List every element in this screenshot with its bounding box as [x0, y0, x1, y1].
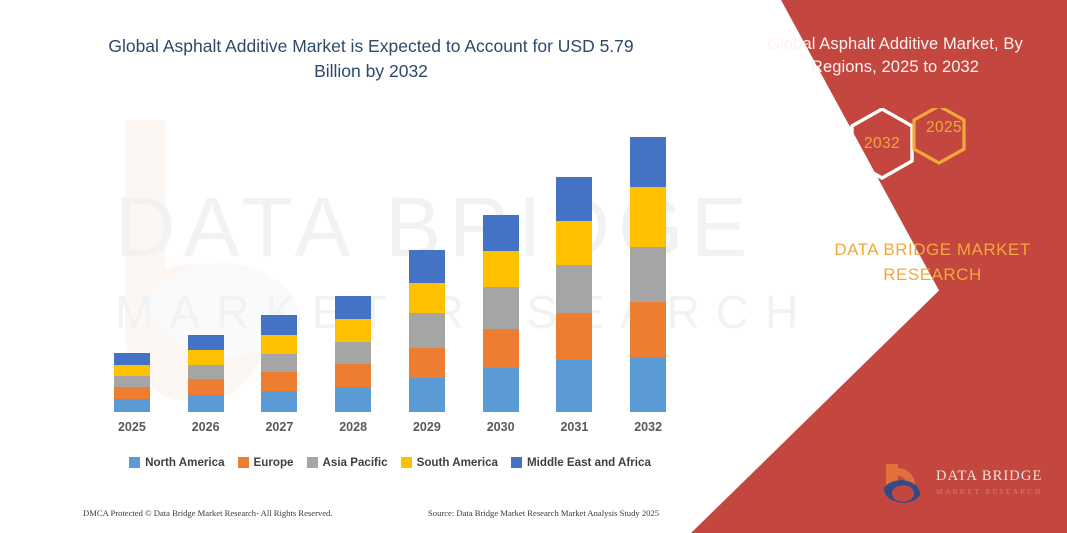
legend-item-middle-east-and-africa[interactable]: Middle East and Africa [511, 456, 651, 469]
hexagon-label-2032: 2032 [787, 135, 977, 153]
bar-segment [188, 379, 224, 395]
bar-segment [556, 360, 592, 412]
bar-segment [335, 364, 371, 387]
bar-column-2032 [630, 137, 666, 412]
panel-brand-line-2: RESEARCH [883, 265, 981, 284]
legend-label: South America [417, 456, 498, 469]
bar-segment [483, 251, 519, 287]
bar-segment [630, 137, 666, 187]
x-axis-label-2032: 2032 [618, 420, 678, 434]
bar-segment [409, 348, 445, 378]
bar-segment [556, 313, 592, 360]
footer-source: Source: Data Bridge Market Research Mark… [428, 508, 659, 524]
bar-segment [261, 391, 297, 412]
bar-segment [335, 319, 371, 342]
bar-segment [188, 395, 224, 412]
bar-column-2026 [188, 335, 224, 412]
data-bridge-b-logo-icon [878, 462, 934, 508]
bar-segment [261, 335, 297, 354]
bar-segment [335, 296, 371, 319]
bar-segment [630, 302, 666, 357]
bar-segment [409, 378, 445, 412]
company-logo: DATA BRIDGE MARKET RESEARCH [878, 462, 1053, 510]
x-axis-label-2025: 2025 [102, 420, 162, 434]
bar-segment [261, 354, 297, 372]
x-axis-label-2028: 2028 [323, 420, 383, 434]
bar-column-2030 [483, 215, 519, 412]
legend-label: North America [145, 456, 224, 469]
bar-segment [630, 187, 666, 247]
x-axis-label-2029: 2029 [397, 420, 457, 434]
legend-label: Europe [254, 456, 294, 469]
bar-column-2025 [114, 353, 150, 412]
bar-segment [114, 365, 150, 376]
legend-item-europe[interactable]: Europe [238, 456, 294, 469]
x-axis-label-2026: 2026 [176, 420, 236, 434]
bar-segment [188, 365, 224, 379]
footer-copyright: DMCA Protected © Data Bridge Market Rese… [83, 508, 333, 524]
bar-segment [409, 250, 445, 283]
bar-segment [630, 247, 666, 302]
bar-segment [409, 283, 445, 313]
logo-primary-text: DATA BRIDGE [936, 468, 1042, 485]
bar-column-2028 [335, 296, 371, 412]
panel-brand-line-1: DATA BRIDGE MARKET [834, 240, 1030, 259]
x-axis-label-2030: 2030 [471, 420, 531, 434]
bar-segment [483, 287, 519, 329]
bar-segment [114, 376, 150, 387]
bar-segment [630, 357, 666, 412]
legend-label: Asia Pacific [323, 456, 388, 469]
legend-item-north-america[interactable]: North America [129, 456, 224, 469]
bar-segment [114, 399, 150, 412]
infographic-canvas: DATA BRIDGE MARKET RESEARCH Global Aspha… [0, 0, 1067, 533]
bar-segment [261, 315, 297, 335]
bar-segment [114, 387, 150, 399]
bar-segment [114, 353, 150, 365]
x-axis-label-2027: 2027 [249, 420, 309, 434]
page-title: Global Asphalt Additive Market is Expect… [88, 34, 654, 85]
chart-legend: North AmericaEuropeAsia PacificSouth Ame… [95, 456, 685, 469]
bar-segment [409, 313, 445, 348]
stacked-bar-chart [95, 120, 685, 412]
bar-segment [556, 265, 592, 313]
legend-swatch [401, 457, 412, 468]
legend-swatch [511, 457, 522, 468]
bar-segment [556, 177, 592, 221]
legend-label: Middle East and Africa [527, 456, 651, 469]
bar-segment [556, 221, 592, 265]
legend-swatch [238, 457, 249, 468]
bar-segment [188, 350, 224, 365]
legend-item-south-america[interactable]: South America [401, 456, 498, 469]
legend-swatch [307, 457, 318, 468]
bar-segment [335, 387, 371, 412]
bar-column-2031 [556, 177, 592, 412]
bar-segment [483, 215, 519, 251]
bar-segment [483, 368, 519, 412]
x-axis-labels: 20252026202720282029203020312032 [95, 420, 685, 442]
bar-column-2029 [409, 250, 445, 412]
bar-segment [483, 329, 519, 368]
bar-column-2027 [261, 315, 297, 412]
legend-item-asia-pacific[interactable]: Asia Pacific [307, 456, 388, 469]
bar-segment [335, 342, 371, 364]
panel-title: Global Asphalt Additive Market, By Regio… [735, 33, 1055, 80]
panel-brand-text: DATA BRIDGE MARKET RESEARCH [790, 238, 1067, 287]
hexagon-label-2025: 2025 [849, 119, 1039, 137]
bar-segment [188, 335, 224, 350]
bar-segment [261, 372, 297, 391]
x-axis-label-2031: 2031 [544, 420, 604, 434]
logo-secondary-text: MARKET RESEARCH [936, 487, 1043, 496]
legend-swatch [129, 457, 140, 468]
hexagon-group: 2032 2025 [822, 108, 1012, 208]
